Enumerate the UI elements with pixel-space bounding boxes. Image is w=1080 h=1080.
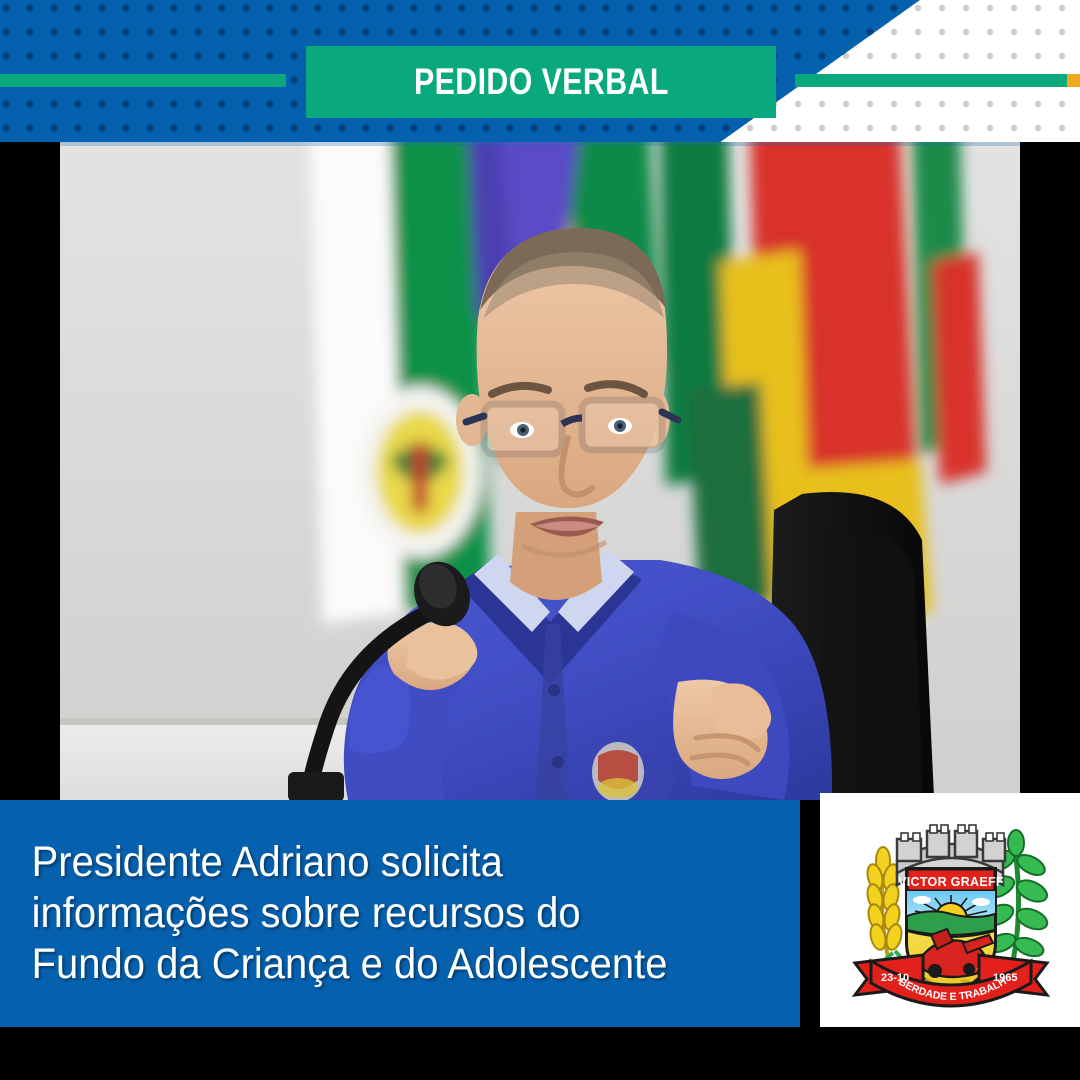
accent-rule-left bbox=[0, 74, 286, 87]
category-badge: PEDIDO VERBAL bbox=[306, 46, 776, 118]
speaker-photo bbox=[60, 142, 1020, 800]
headline-line-1: Presidente Adriano solicita bbox=[32, 837, 668, 888]
accent-rule-right bbox=[795, 74, 1072, 87]
coat-of-arms-panel: VICTOR GRAEFF bbox=[820, 793, 1080, 1027]
headline-line-3: Fundo da Criança e do Adolescente bbox=[32, 939, 668, 990]
category-badge-label: PEDIDO VERBAL bbox=[414, 61, 669, 103]
shield-municipality-text: VICTOR GRAEFF bbox=[898, 875, 1004, 889]
headline-line-2: informações sobre recursos do bbox=[32, 888, 668, 939]
accent-rule-yellow-cap bbox=[1067, 74, 1080, 87]
speaker-photo-illustration bbox=[60, 142, 1020, 800]
header-band: PEDIDO VERBAL bbox=[0, 0, 1080, 142]
coat-of-arms-icon: VICTOR GRAEFF bbox=[835, 803, 1065, 1018]
poster-canvas: PEDIDO VERBAL bbox=[0, 0, 1080, 1080]
headline-panel: Presidente Adriano solicita informações … bbox=[0, 800, 800, 1027]
headline-text: Presidente Adriano solicita informações … bbox=[0, 837, 695, 989]
